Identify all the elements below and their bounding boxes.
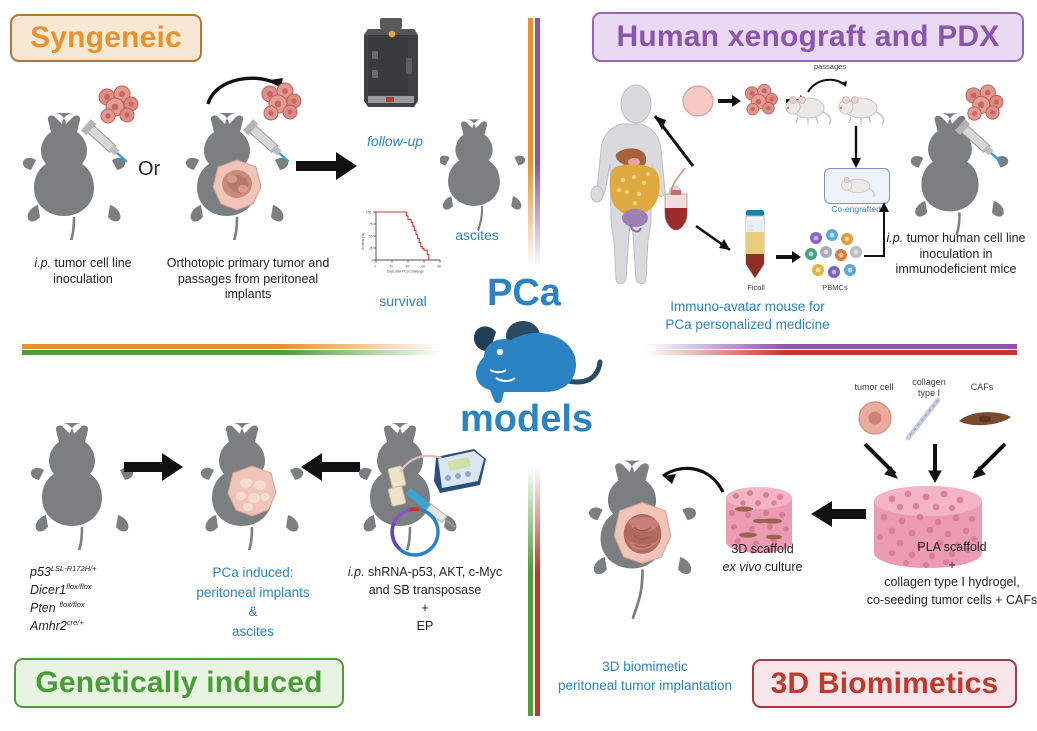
logo-models-text: models [460, 398, 593, 441]
genotype-sup-3: flox/flox [59, 600, 84, 609]
svg-text:75: 75 [369, 223, 373, 227]
tumor-cell-cluster-icon-3 [742, 83, 780, 117]
caption-immunodeficient: i.p. tumor human cell line inoculation i… [878, 231, 1034, 278]
open-abdomen-implant [614, 502, 671, 563]
immuno-avatar-caption: Immuno-avatar mouse for PCa personalized… [630, 298, 865, 333]
survival-curve-chart: 100 75 50 25 0 0 20 40 60 80 Survival (%… [360, 208, 446, 274]
divider-top-left-green [22, 350, 442, 355]
caption-ip-inoculation: i.p. i.p. tumor cell line tumor cell lin… [8, 256, 158, 287]
caption-3d-scaffold: 3D scaffold ex vivo culture [700, 541, 825, 576]
genotype-row-2: Dicer1flox/flox [30, 581, 97, 599]
pca-induced-line2: peritoneal implants [196, 585, 309, 600]
caption-pca-induced: PCa induced: peritoneal implants & ascit… [168, 563, 338, 641]
syringe-icon-3 [950, 118, 1008, 170]
caf-cell-icon [957, 408, 1013, 430]
panel-title-genetically-induced: Genetically induced [14, 658, 344, 708]
svg-text:100: 100 [366, 211, 372, 215]
tumor-cell-icon-single [855, 398, 895, 438]
svg-text:Days after PCa Challenge: Days after PCa Challenge [387, 270, 424, 274]
caption-ip-line2: inoculation [53, 272, 113, 286]
pca-induced-line1: PCa induced: [212, 565, 293, 580]
caption-shrna-line4: EP [417, 619, 434, 633]
caption-shrna-rest: shRNA-p53, AKT, c-Myc [368, 565, 502, 579]
passages-label: passages [795, 62, 865, 71]
genotype-row-3: Pten flox/flox [30, 599, 97, 617]
ascites-label: ascites [434, 226, 520, 244]
panel-title-xenograft: Human xenograft and PDX [592, 12, 1024, 62]
caption-pla-scaffold: PLA scaffold + collagen type I hydrogel,… [862, 539, 1037, 609]
mouse-silhouette-biomimetic-implant [588, 446, 698, 626]
caption-immunodeficient-prefix: i.p. [887, 231, 904, 245]
syringe-icon-1 [76, 118, 134, 170]
genotype-sup-2: flox/flox [66, 582, 91, 591]
tumor-cell-cluster-icon-2 [258, 82, 304, 122]
genotype-gene-2: Dicer1 [30, 583, 66, 597]
genotype-sup-4: cre/+ [67, 618, 84, 627]
follow-up-label: follow-up [352, 132, 438, 150]
mouse-silhouette-ascites [440, 105, 525, 230]
svg-text:80: 80 [438, 265, 442, 269]
caption-immunodeficient-line2: inoculation in [920, 247, 993, 261]
ficoll-label: Ficoll [730, 283, 782, 292]
panel-title-3d-biomimetics: 3D Biomimetics [752, 659, 1017, 708]
divider-vertical-top-orange [528, 18, 533, 268]
caption-immunodeficient-line3: immunodeficient mice [896, 262, 1017, 276]
figure-canvas: Syngeneic Human xenograft and PDX Geneti… [0, 0, 1037, 731]
immuno-avatar-line2: PCa personalized medicine [665, 317, 829, 332]
tumor-cell-label: tumor cell [844, 382, 904, 393]
divider-top-right [645, 344, 1017, 349]
arrow-left-genetic [300, 452, 360, 482]
genotype-gene-4: Amhr2 [30, 619, 67, 633]
arrow-small-1 [718, 94, 742, 108]
mouse-silhouette-genotype [30, 415, 135, 550]
syringe-icon-2 [238, 118, 296, 170]
implant-line1: 3D biomimetic [602, 659, 688, 674]
arrow-to-ficoll [694, 222, 742, 260]
divider-top-left [22, 344, 442, 349]
or-label: Or [138, 158, 160, 181]
pla-line3: collagen type I hydrogel, [884, 575, 1020, 589]
svg-text:20: 20 [390, 265, 394, 269]
svg-text:0: 0 [375, 265, 377, 269]
svg-text:Survival (%): Survival (%) [361, 233, 365, 250]
survival-label: survival [358, 292, 448, 310]
collagen-line1: collagen [912, 377, 946, 387]
caption-shrna-line3: + [421, 601, 428, 615]
caption-shrna-line2: and SB transposase [369, 583, 482, 597]
tumor-cell-cluster-icon-4 [962, 84, 1006, 122]
collagen-fiber-icon [902, 396, 944, 442]
arrow-right-syngeneic [296, 150, 358, 182]
divider-vertical-bottom-green [528, 466, 533, 716]
genotype-list: p53LSL-R172H/+ Dicer1flox/flox Pten flox… [30, 563, 97, 636]
primary-tumor-icon [680, 83, 716, 119]
caption-shrna-prefix: i.p. [348, 565, 365, 579]
pla-line1: PLA scaffold [917, 540, 986, 554]
scaffold-line1: 3D scaffold [731, 542, 793, 556]
genotype-gene-1: p53 [30, 565, 51, 579]
svg-text:60: 60 [422, 265, 426, 269]
pbmc-cells-icon [804, 228, 866, 284]
co-engrafted-box [824, 168, 890, 204]
electrode-wire [398, 450, 444, 480]
svg-text:40: 40 [406, 265, 410, 269]
caption-orthotopic-line2: passages from peritoneal [178, 272, 318, 286]
genotype-row-4: Amhr2cre/+ [30, 617, 97, 635]
pca-induced-line3: & [248, 604, 257, 619]
svg-text:50: 50 [369, 235, 373, 239]
peritoneal-implants-abdomen [228, 466, 276, 516]
plasmid-icon [382, 500, 448, 560]
white-mouse-icon-2 [835, 92, 885, 126]
arrow-right-genetic [124, 452, 184, 482]
scaffold-exvivo-italic: ex vivo [723, 560, 762, 574]
svg-text:0: 0 [372, 259, 374, 263]
caption-biomimetic-implant: 3D biomimetic peritoneal tumor implantat… [540, 658, 750, 696]
logo-pca-text: PCa [487, 272, 561, 315]
cafs-label: CAFs [958, 382, 1006, 393]
caption-orthotopic-line1: Orthotopic primary tumor and [167, 256, 330, 270]
genotype-gene-3: Pten [30, 601, 59, 615]
genotype-sup-1: LSL-R172H/+ [51, 564, 97, 573]
panel-title-syngeneic: Syngeneic [10, 14, 202, 62]
caption-shrna: i.p. shRNA-p53, AKT, c-Myc and SB transp… [330, 563, 520, 636]
caption-ip-rest: tumor cell line [55, 256, 132, 270]
mouse-silhouette-pca-induced [200, 415, 305, 550]
pla-line4: co-seeding tumor cells + CAFs [867, 593, 1037, 607]
pbmcs-label: PBMCs [808, 283, 862, 292]
arrow-to-pbmc [776, 250, 802, 264]
divider-vertical-top-purple [535, 18, 540, 268]
svg-text:25: 25 [369, 247, 373, 251]
white-mouse-icon-3 [833, 174, 881, 198]
caption-ip-prefix: i.p. [34, 256, 51, 270]
genotype-row-1: p53LSL-R172H/+ [30, 563, 97, 581]
immuno-avatar-line1: Immuno-avatar mouse for [670, 299, 825, 314]
ficoll-tube-icon [740, 210, 770, 282]
pla-line2: + [948, 558, 955, 572]
caption-orthotopic: Orthotopic primary tumor and passages fr… [148, 256, 348, 303]
imaging-device-icon [362, 18, 420, 110]
caption-immunodeficient-rest: tumor human cell line [907, 231, 1026, 245]
arrow-down-coengraft [849, 126, 865, 170]
pca-induced-line4: ascites [232, 624, 274, 639]
implant-line2: peritoneal tumor implantation [558, 678, 732, 693]
scaffold-culture-text: culture [761, 560, 802, 574]
divider-top-right-red [645, 350, 1017, 355]
arrow-left-biomimetics [810, 500, 866, 528]
caption-orthotopic-line3: implants [225, 287, 272, 301]
